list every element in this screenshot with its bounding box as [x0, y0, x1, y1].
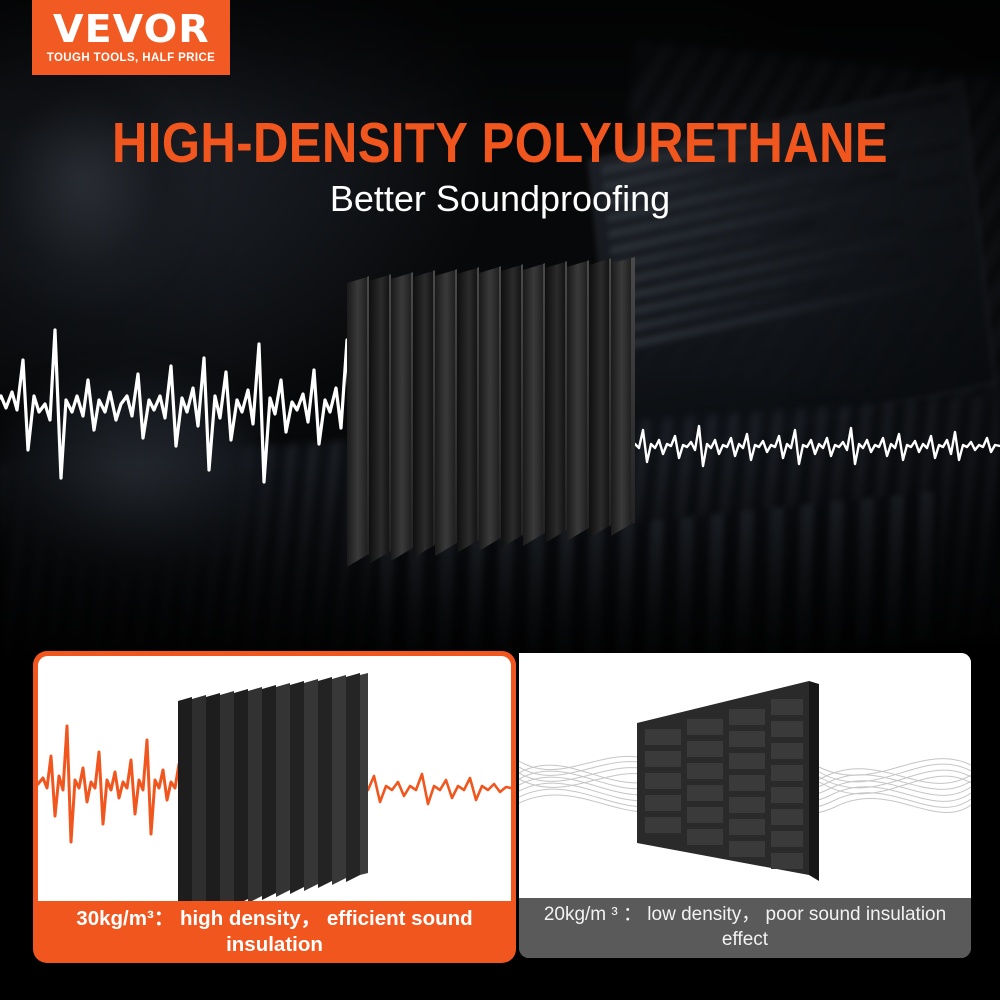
- product-marketing-image: VEVOR TOUGH TOOLS, HALF PRICE HIGH-DENSI…: [0, 0, 1000, 1000]
- hero-outgoing-waveform: [630, 400, 1000, 490]
- high-density-caption-text: 30kg/m³： high density， efficient sound i…: [47, 906, 502, 958]
- high-density-photo: [38, 656, 511, 901]
- hero-headline: HIGH-DENSITY POLYURETHANE: [70, 110, 930, 176]
- logo-wordmark: VEVOR: [53, 11, 210, 47]
- low-density-illustration: [519, 653, 971, 898]
- high-density-illustration: [38, 656, 511, 901]
- low-density-caption-text: 20kg/m ³ ： low density， poor sound insul…: [531, 903, 959, 952]
- high-density-caption: 30kg/m³： high density， efficient sound i…: [33, 901, 516, 963]
- logo-tagline: TOUGH TOOLS, HALF PRICE: [47, 52, 216, 64]
- hero-subheadline: Better Soundproofing: [0, 178, 1000, 220]
- low-density-photo: [519, 653, 971, 898]
- hero-acoustic-foam-panel: [345, 255, 645, 615]
- comparison-card-low-density: 20kg/m ³ ： low density， poor sound insul…: [519, 653, 971, 958]
- comparison-card-high-density: 30kg/m³： high density， efficient sound i…: [33, 651, 516, 963]
- vevor-logo: VEVOR TOUGH TOOLS, HALF PRICE: [32, 0, 230, 75]
- low-density-caption: 20kg/m ³ ： low density， poor sound insul…: [519, 898, 971, 958]
